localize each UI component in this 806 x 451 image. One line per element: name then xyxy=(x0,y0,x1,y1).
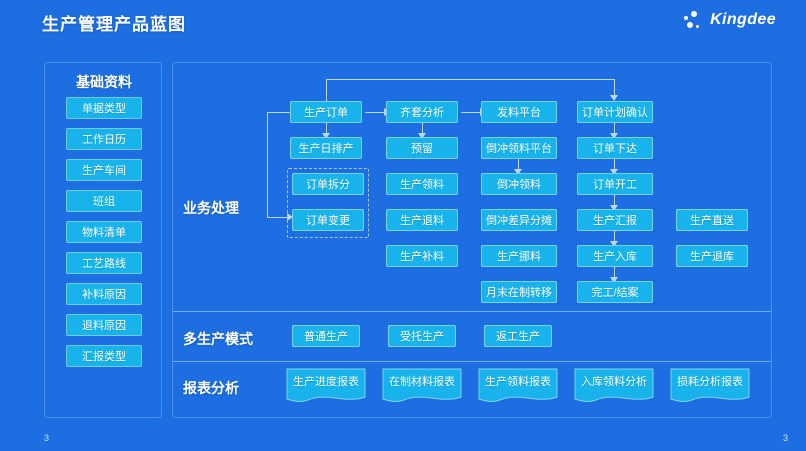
node-daochonglingliaopingtai[interactable]: 倒冲领料平台 xyxy=(481,137,557,159)
sidebar-list: 单据类型 工作日历 生产车间 班组 物料清单 工艺路线 补料原因 退料原因 汇报… xyxy=(45,97,163,376)
report-label: 生产领料报表 xyxy=(478,373,558,389)
node-shengchannuoliao[interactable]: 生产挪料 xyxy=(481,245,557,267)
node-yuliu[interactable]: 预留 xyxy=(386,137,458,159)
report-label: 在制材料报表 xyxy=(382,373,462,389)
node-yuemozaizhizhuanyi[interactable]: 月末在制转移 xyxy=(481,281,557,303)
divider-reports xyxy=(173,361,771,362)
report-zaizhicailiao[interactable]: 在制材料报表 xyxy=(382,368,462,406)
connector-top-horizontal xyxy=(326,79,614,80)
node-daochonglingliao[interactable]: 倒冲领料 xyxy=(481,173,557,195)
node-dingdanxiada[interactable]: 订单下达 xyxy=(577,137,653,159)
node-faliaopingtai[interactable]: 发料平台 xyxy=(481,101,557,123)
brand-name: Kingdee xyxy=(710,11,776,29)
node-shengchanripaichan[interactable]: 生产日排产 xyxy=(290,137,362,159)
section-label-modes: 多生产模式 xyxy=(183,329,253,349)
node-shengchantuiliao[interactable]: 生产退料 xyxy=(386,209,458,231)
page-title: 生产管理产品蓝图 xyxy=(42,10,186,35)
kingdee-dots-icon xyxy=(682,10,704,30)
report-label: 入库领料分析 xyxy=(574,373,654,389)
node-shengchanruku[interactable]: 生产入库 xyxy=(577,245,653,267)
connector-into-dashed xyxy=(267,217,287,218)
mode-putongshengchan[interactable]: 普通生产 xyxy=(292,325,360,347)
node-qitaofenxi[interactable]: 齐套分析 xyxy=(386,101,458,123)
mode-fangongshengchan[interactable]: 返工生产 xyxy=(484,325,552,347)
node-shengchanbuliao[interactable]: 生产补料 xyxy=(386,245,458,267)
report-sunhaofenxi[interactable]: 损耗分析报表 xyxy=(670,368,750,406)
node-dingdanchaifen[interactable]: 订单拆分 xyxy=(292,173,364,195)
sidebar-item-shengchanchejian[interactable]: 生产车间 xyxy=(66,159,142,181)
node-dingdankaigong[interactable]: 订单开工 xyxy=(577,173,653,195)
report-shengchanjindu[interactable]: 生产进度报表 xyxy=(286,368,366,406)
page-number-left: 3 xyxy=(44,433,49,443)
node-shengchantuiku[interactable]: 生产退库 xyxy=(676,245,748,267)
mode-shoutuoshengchan[interactable]: 受托生产 xyxy=(388,325,456,347)
sidebar-item-gongzuorili[interactable]: 工作日历 xyxy=(66,128,142,150)
sidebar-item-huibaoleixing[interactable]: 汇报类型 xyxy=(66,345,142,367)
report-shengchanlingliao[interactable]: 生产领料报表 xyxy=(478,368,558,406)
section-label-business: 业务处理 xyxy=(183,198,239,218)
slide-header: 生产管理产品蓝图 Kingdee xyxy=(0,0,806,46)
brand-logo: Kingdee xyxy=(682,10,776,30)
node-shengchandingdan[interactable]: 生产订单 xyxy=(290,101,362,123)
sidebar-title: 基础资料 xyxy=(45,72,163,92)
node-shengchanzhisong[interactable]: 生产直送 xyxy=(676,209,748,231)
node-wangong-jiean[interactable]: 完工/结案 xyxy=(577,281,653,303)
sidebar-item-buliaoyuanyin[interactable]: 补料原因 xyxy=(66,283,142,305)
sidebar-item-gongyiluxian[interactable]: 工艺路线 xyxy=(66,252,142,274)
connector-order-top-up xyxy=(326,79,327,101)
node-shengchanlingliao[interactable]: 生产领料 xyxy=(386,173,458,195)
main-panel xyxy=(172,62,772,418)
node-daochongchayifentan[interactable]: 倒冲差异分摊 xyxy=(481,209,557,231)
node-dingdanbiangeng[interactable]: 订单变更 xyxy=(292,209,364,231)
node-dingdanjihuaqueren[interactable]: 订单计划确认 xyxy=(577,101,653,123)
sidebar-item-danjuleixing[interactable]: 单据类型 xyxy=(66,97,142,119)
connector-order-to-qitao xyxy=(365,112,385,113)
sidebar-item-tuiliaoyuanyin[interactable]: 退料原因 xyxy=(66,314,142,336)
report-label: 生产进度报表 xyxy=(286,373,366,389)
section-label-reports: 报表分析 xyxy=(183,378,239,398)
divider-modes xyxy=(173,311,771,312)
sidebar-item-banzu[interactable]: 班组 xyxy=(66,190,142,212)
node-shengchanhuibao[interactable]: 生产汇报 xyxy=(577,209,653,231)
report-label: 损耗分析报表 xyxy=(670,373,750,389)
report-rukulingliao[interactable]: 入库领料分析 xyxy=(574,368,654,406)
sidebar-item-wuliaoqingdan[interactable]: 物料清单 xyxy=(66,221,142,243)
page-number-right: 3 xyxy=(783,433,788,443)
connector-order-left-down xyxy=(267,112,268,217)
connector-qitao-to-faliao xyxy=(461,112,481,113)
sidebar-panel: 基础资料 单据类型 工作日历 生产车间 班组 物料清单 工艺路线 补料原因 退料… xyxy=(44,62,162,418)
slide-canvas: 生产管理产品蓝图 Kingdee 基础资料 单据类型 工作日历 生产车间 班组 … xyxy=(0,0,806,451)
